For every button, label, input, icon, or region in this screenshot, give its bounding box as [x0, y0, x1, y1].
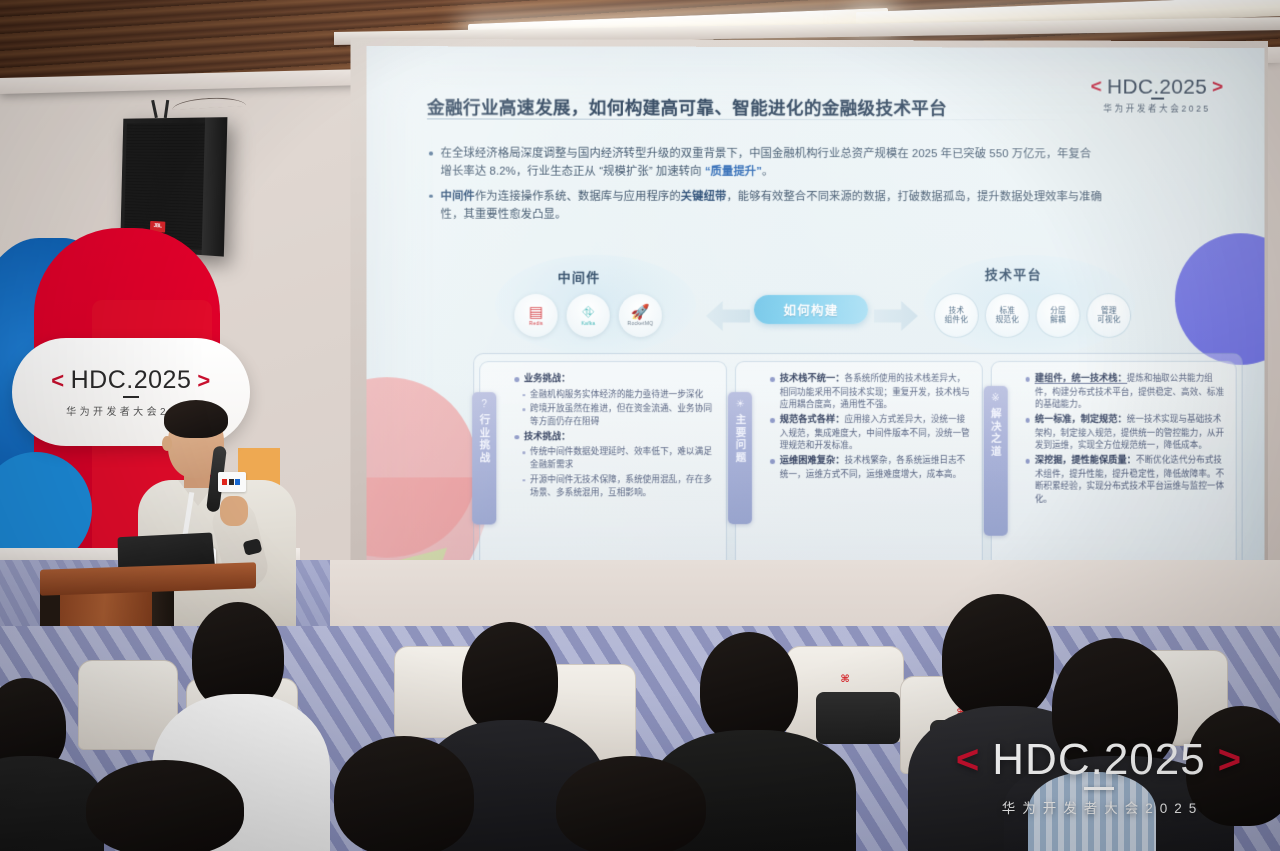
list-item: 统一标准，制定规范：统一技术实现与基础技术架构，制定接入规范，提供统一的管控能力… — [1025, 413, 1225, 452]
tab-main-problems[interactable]: ☀ 主要问题 — [728, 392, 752, 524]
tab-solutions[interactable]: ※ 解决之道 — [983, 386, 1007, 536]
list-item: 传统中间件数据处理延时、效率低下，难以满足金融新需求 — [514, 445, 716, 471]
bullet-2-line-1-post: ，能够有效整合不同来源的数据，打破数据孤岛，提升数据处理效率与准确 — [726, 191, 1102, 203]
list-item: 技术挑战： — [514, 430, 716, 444]
audience-head — [556, 756, 706, 851]
bullet-dot-icon — [514, 435, 519, 440]
middleware-label: 中间件 — [558, 267, 601, 286]
sub-bullet-dot-icon — [522, 394, 525, 397]
bubble-4-line-2: 可视化 — [1097, 316, 1120, 324]
audience-head — [334, 736, 474, 851]
presenter-ear — [162, 436, 172, 451]
rocketmq-icon: 🚀 RocketMQ — [619, 294, 662, 337]
how-to-build-pill: 如何构建 — [754, 295, 868, 324]
panel-solutions: ※ 解决之道 建组件，统一技术栈：提炼和抽取公共能力组件，构建分布式技术平台，提… — [990, 361, 1236, 577]
p1-item5-text: 传统中间件数据处理延时、效率低下，难以满足金融新需求 — [530, 445, 716, 471]
p2-item1-bold: 技术栈不统一： — [780, 373, 845, 383]
bullet-2-line-1-mid: 作为连接操作系统、数据库与应用程序的 — [475, 190, 681, 202]
arrow-left-icon — [706, 301, 750, 331]
audience-head — [462, 622, 558, 734]
bubble-1-line-2: 组件化 — [945, 316, 968, 324]
kafka-glyph: ⛗ — [582, 304, 594, 319]
redis-label: Redis — [529, 320, 543, 326]
list-item: 技术栈不统一：各系统所使用的技术栈差异大，相同功能采用不同技术实现；重复开发，技… — [770, 372, 971, 411]
tab-solutions-label: 解决之道 — [990, 408, 1000, 458]
slide-hdc-logo: < HDC.2025 > 华为开发者大会2025 — [1071, 75, 1242, 114]
speaker-side-panel — [202, 117, 228, 256]
bubble-standard-normalization: 标准 规范化 — [985, 293, 1030, 338]
chair-seat — [816, 692, 900, 744]
list-item: 运维困难复杂：技术栈繁杂，各系统运维日志不统一，运维方式不同，运维难度增大，成本… — [770, 454, 971, 481]
bullet-dot-icon — [1025, 459, 1029, 463]
rocketmq-glyph: 🚀 — [631, 304, 650, 319]
watermark-underbar — [1084, 787, 1114, 790]
bullet-2-line-2: 性，其重要性愈发凸显。 — [441, 209, 567, 221]
microphone-flag-logo — [218, 472, 246, 492]
arrow-right-icon — [874, 301, 918, 331]
p2-item3-bold: 运维困难复杂： — [780, 455, 845, 465]
platform-capability-bubbles: 技术 组件化 标准 规范化 分层 解耦 管理 可视化 — [934, 293, 1131, 338]
bullet-item-1: 在全球经济格局深度调整与国内经济转型升级的双重背景下，中国金融机构行业总资产规模… — [429, 144, 1219, 182]
chevron-right-icon: > — [1212, 77, 1223, 99]
list-item: 开源中间件无技术保障，系统使用混乱，存在多场景、多系统混用，互相影响。 — [514, 473, 716, 499]
hdc-watermark-logo: < HDC.2025 > 华为开发者大会2025 — [954, 735, 1244, 817]
bubble-3-line-2: 解耦 — [1050, 316, 1066, 324]
bullet-1-line-2-pre: 增长率达 8.2%，行业生态正从 “规模扩张” 加速转向 — [441, 166, 705, 178]
bullet-dot-icon — [1025, 418, 1029, 422]
watermark-logo-text: HDC.2025 — [992, 735, 1205, 785]
bullet-dot-icon — [429, 194, 433, 198]
tab-industry-challenges[interactable]: ? 行业挑战 — [472, 392, 496, 524]
audience-head — [942, 594, 1054, 720]
slide-hdc-logo-text: HDC.2025 — [1107, 76, 1207, 100]
presentation-slide: 金融行业高速发展，如何构建高可靠、智能进化的金融级技术平台 < HDC.2025… — [367, 46, 1265, 604]
panel-main-problems: ☀ 主要问题 技术栈不统一：各系统所使用的技术栈差异大，相同功能采用不同技术实现… — [735, 361, 982, 577]
sun-icon: ☀ — [736, 400, 745, 410]
bullet-1-highlight: “质量提升” — [705, 166, 762, 178]
list-item: 金融机构服务实体经济的能力亟待进一步深化 — [514, 388, 716, 401]
presenter-hair — [164, 400, 228, 438]
bullet-dot-icon — [770, 459, 775, 464]
chevron-left-icon: < — [1091, 76, 1102, 98]
bullet-2-keyword: 中间件 — [441, 190, 475, 202]
chevron-right-icon: > — [197, 368, 210, 394]
bullet-dot-icon — [1025, 377, 1029, 381]
title-divider-rule — [427, 118, 1076, 120]
bubble-tech-componentization: 技术 组件化 — [934, 293, 979, 338]
kafka-label: Kafka — [581, 320, 595, 326]
slide-hdc-logo-subtitle: 华为开发者大会2025 — [1071, 102, 1242, 114]
bullet-item-2: 中间件作为连接操作系统、数据库与应用程序的关键纽带，能够有效整合不同来源的数据，… — [429, 187, 1219, 224]
slide-title: 金融行业高速发展，如何构建高可靠、智能进化的金融级技术平台 — [427, 94, 947, 120]
p1-item3-text: 跨境开放虽然在推进，但在资金流通、业务协同等方面仍存在阻碍 — [530, 402, 716, 428]
p2-item2-bold: 规范各式各样： — [780, 414, 845, 424]
p3-item3-bold: 深挖掘，提性能保质量： — [1035, 455, 1136, 465]
sub-bullet-dot-icon — [522, 409, 525, 412]
middleware-icon-group: ▤ Redis ⛗ Kafka 🚀 RocketMQ — [514, 294, 661, 337]
bubble-2-line-2: 规范化 — [996, 316, 1019, 324]
bubble-layered-decoupling: 分层 解耦 — [1036, 293, 1081, 338]
kafka-icon: ⛗ Kafka — [567, 294, 610, 337]
list-item: 深挖掘，提性能保质量：不断优化迭代分布式技术组件，提升性能，提升稳定性，降低故障… — [1025, 454, 1225, 506]
bullet-2-bold-phrase: 关键纽带 — [681, 190, 727, 202]
redis-glyph: ▤ — [529, 304, 543, 319]
list-item: 业务挑战： — [514, 372, 716, 386]
rocketmq-label: RocketMQ — [627, 320, 653, 326]
question-mark-icon: ? — [481, 400, 487, 410]
bubble-management-visualization: 管理 可视化 — [1086, 293, 1131, 338]
presenter-hand — [220, 496, 248, 526]
bullet-dot-icon — [429, 152, 433, 156]
backdrop-logo-underbar — [123, 396, 139, 398]
bullet-1-line-2-post: 。 — [762, 166, 773, 178]
redis-icon: ▤ Redis — [514, 294, 557, 337]
list-item: 规范各式各样：应用接入方式差异大，没统一接入规范，集成难度大，中间件版本不同，没… — [770, 413, 971, 452]
sparkle-icon: ※ — [991, 394, 999, 404]
slide-bullet-list: 在全球经济格局深度调整与国内经济转型升级的双重背景下，中国金融机构行业总资产规模… — [429, 144, 1219, 230]
backdrop-logo-text: HDC.2025 — [71, 366, 192, 395]
how-to-build-label: 如何构建 — [783, 300, 838, 319]
panel-industry-challenges: ? 行业挑战 业务挑战： 金融机构服务实体经济的能力亟待进一步深化 跨境开放虽然… — [479, 361, 727, 578]
audience-head — [86, 760, 244, 851]
p1-item1-bold: 业务挑战： — [524, 373, 570, 383]
tab-main-problems-label: 主要问题 — [735, 414, 746, 464]
audience-head — [700, 632, 798, 744]
p1-item4-bold: 技术挑战： — [524, 431, 570, 441]
tech-platform-label: 技术平台 — [985, 264, 1042, 283]
chevron-left-icon: < — [956, 738, 980, 783]
p1-item2-text: 金融机构服务实体经济的能力亟待进一步深化 — [530, 388, 703, 401]
conference-photo-scene: JBL 金融行业高速发展，如何构建高可靠、智能进化的金融级技术平台 < HDC.… — [0, 0, 1280, 851]
chevron-left-icon: < — [51, 368, 64, 394]
bullet-dot-icon — [770, 377, 775, 382]
watermark-subtitle: 华为开发者大会2025 — [954, 797, 1244, 817]
p3-item1-bold: 建组件，统一技术栈： — [1035, 373, 1127, 384]
p1-item6-text: 开源中间件无技术保障，系统使用混乱，存在多场景、多系统混用，互相影响。 — [530, 473, 716, 499]
list-item: 建组件，统一技术栈：提炼和抽取公共能力组件，构建分布式技术平台，提供稳定、高效、… — [1025, 372, 1225, 411]
sub-bullet-dot-icon — [522, 452, 525, 455]
p3-item2-bold: 统一标准，制定规范： — [1035, 414, 1127, 424]
huawei-chair-logo-icon: ⌘ — [839, 675, 851, 685]
bullet-1-line-1: 在全球经济格局深度调整与国内经济转型升级的双重背景下，中国金融机构行业总资产规模… — [441, 148, 1092, 161]
architecture-diagram: 中间件 技术平台 ▤ Redis ⛗ Kafka 🚀 RocketMQ — [367, 253, 1265, 365]
tab-industry-challenges-label: 行业挑战 — [479, 414, 490, 464]
bullet-dot-icon — [770, 418, 775, 423]
chevron-right-icon: > — [1218, 738, 1242, 783]
sub-bullet-dot-icon — [522, 479, 525, 482]
panel-group: ? 行业挑战 业务挑战： 金融机构服务实体经济的能力亟待进一步深化 跨境开放虽然… — [479, 361, 1236, 578]
list-item: 跨境开放虽然在推进，但在资金流通、业务协同等方面仍存在阻碍 — [514, 402, 716, 428]
bullet-dot-icon — [514, 377, 519, 382]
